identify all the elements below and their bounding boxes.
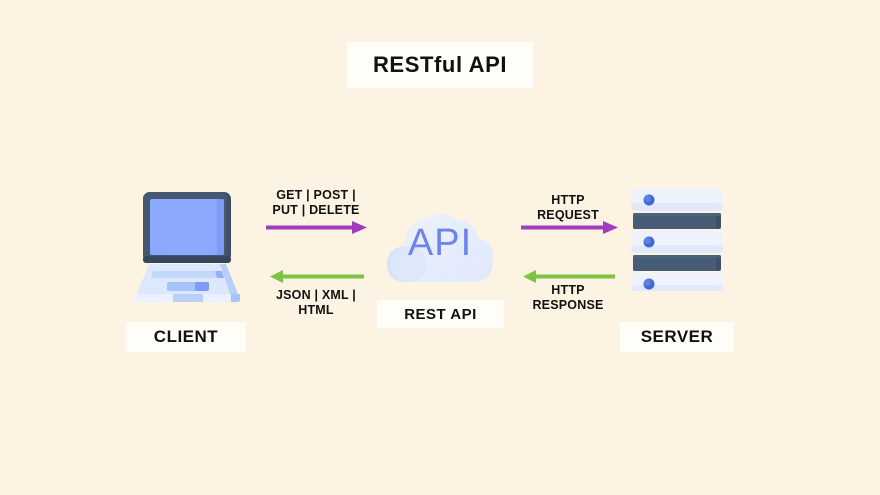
api-to-client-arrow: [270, 269, 364, 290]
client-label: CLIENT: [126, 322, 246, 352]
api-to-server-arrow: [521, 220, 619, 241]
page-title: RESTful API: [347, 42, 533, 88]
rest-api-label: REST API: [377, 300, 504, 328]
api-to-server-label: HTTP REQUEST: [512, 193, 624, 223]
client-to-api-label: GET | POST | PUT | DELETE: [255, 188, 377, 218]
api-to-client-label: JSON | XML | HTML: [255, 288, 377, 318]
laptop-icon: [125, 190, 250, 302]
client-to-api-arrow: [266, 220, 368, 241]
server-to-api-label: HTTP RESPONSE: [512, 283, 624, 313]
server-icon: [631, 189, 723, 291]
server-label: SERVER: [620, 322, 734, 352]
cloud-icon: [381, 198, 499, 288]
diagram-canvas: RESTful API CLIENT GET |: [0, 0, 880, 495]
